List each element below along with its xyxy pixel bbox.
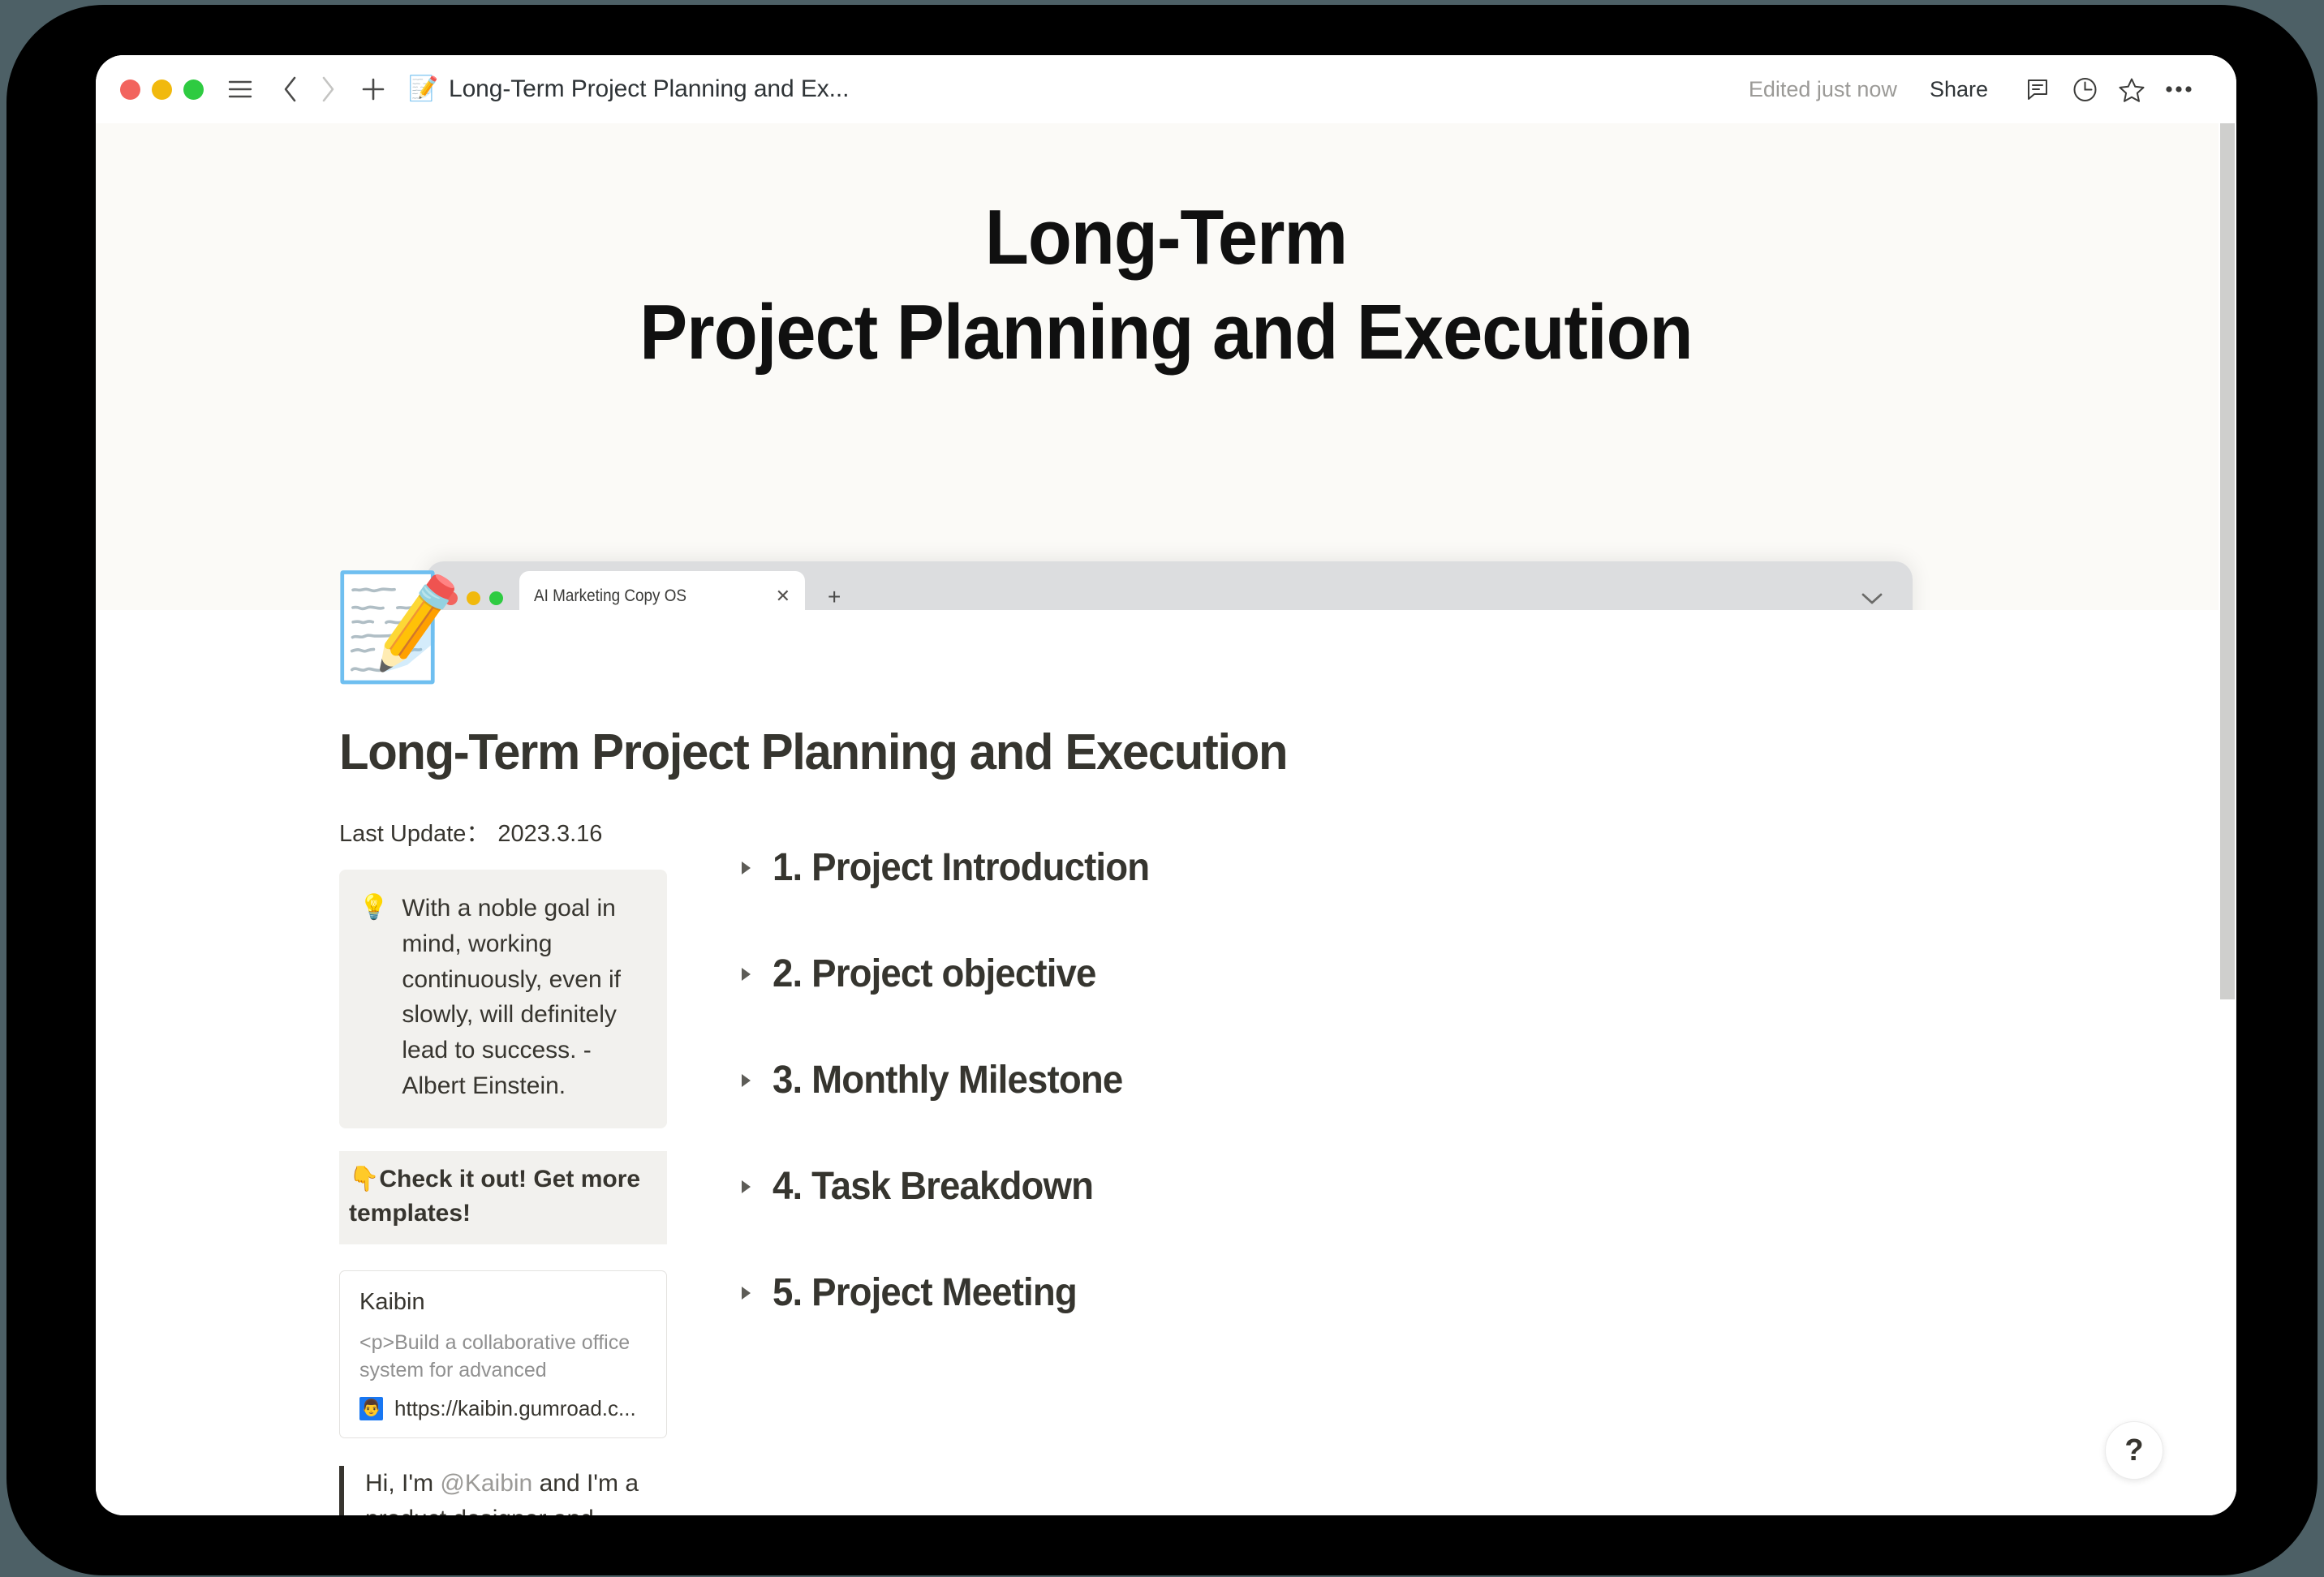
chevron-down-icon <box>1861 591 1883 610</box>
page-icon[interactable]: 📝 <box>333 571 446 685</box>
toggle-item-5[interactable]: 5. Project Meeting <box>735 1270 2139 1315</box>
last-update-row: Last Update：2023.3.16 <box>339 814 667 849</box>
close-button[interactable] <box>120 79 140 100</box>
page-scroll-area[interactable]: Long-Term Project Planning and Execution… <box>96 123 2236 1515</box>
pointing-down-icon: 👇 <box>349 1166 379 1192</box>
bookmark-title: Kaibin <box>359 1289 647 1316</box>
forward-button[interactable] <box>309 71 346 108</box>
toggle-item-4[interactable]: 4. Task Breakdown <box>735 1164 2139 1209</box>
toggle-label[interactable]: 1. Project Introduction <box>773 845 1149 890</box>
page-cover: Long-Term Project Planning and Execution… <box>96 123 2236 610</box>
toggle-item-3[interactable]: 3. Monthly Milestone <box>735 1058 2139 1102</box>
bookmark-link-row: 👨 https://kaibin.gumroad.c... <box>359 1396 647 1421</box>
help-button[interactable]: ? <box>2105 1421 2163 1480</box>
scrollbar-thumb[interactable] <box>2220 123 2235 999</box>
toggle-label[interactable]: 2. Project objective <box>773 952 1096 996</box>
favicon-icon: 👨 <box>359 1397 383 1420</box>
plus-icon[interactable] <box>355 71 392 108</box>
breadcrumb[interactable]: 📝 Long-Term Project Planning and Ex... <box>410 75 849 103</box>
mockup-maximize-dot <box>489 591 503 605</box>
share-button[interactable]: Share <box>1918 71 1999 109</box>
mockup-minimize-dot <box>467 591 480 605</box>
mockup-tab-label: AI Marketing Copy OS <box>534 587 744 606</box>
cover-title-line-1: Long-Term <box>182 190 2151 285</box>
mockup-new-tab-icon: + <box>805 586 841 610</box>
page-emoji-icon: 📝 <box>410 75 437 103</box>
author-quote-text: Hi, I'm @Kaibin and I'm a product design… <box>365 1466 667 1515</box>
minimize-button[interactable] <box>152 79 172 100</box>
mention-link[interactable]: @Kaibin <box>440 1470 532 1497</box>
edited-status: Edited just now <box>1749 77 1897 102</box>
promo-highlight[interactable]: 👇Check it out! Get more templates! <box>339 1151 667 1244</box>
back-button[interactable] <box>272 71 309 108</box>
title-bar-actions: Edited just now Share <box>1749 67 2201 111</box>
cover-title: Long-Term Project Planning and Execution <box>182 190 2151 380</box>
app-window: 📝 Long-Term Project Planning and Ex... E… <box>96 55 2236 1515</box>
mockup-tab-bar: AI Marketing Copy OS ✕ + <box>426 561 1913 610</box>
triangle-right-icon[interactable] <box>735 964 756 985</box>
vertical-scrollbar[interactable] <box>2219 123 2236 1515</box>
comment-icon[interactable] <box>2016 67 2059 111</box>
bookmark-card[interactable]: Kaibin <p>Build a collaborative office s… <box>339 1270 667 1438</box>
page-title[interactable]: Long-Term Project Planning and Execution <box>339 724 1287 781</box>
two-column-layout: Last Update：2023.3.16 💡 With a noble goa… <box>339 814 2139 1515</box>
toggle-label[interactable]: 3. Monthly Milestone <box>773 1058 1122 1102</box>
ellipsis-icon[interactable] <box>2157 67 2201 111</box>
toggle-label[interactable]: 5. Project Meeting <box>773 1270 1077 1315</box>
triangle-right-icon[interactable] <box>735 1176 756 1197</box>
toggle-item-1[interactable]: 1. Project Introduction <box>735 845 2139 890</box>
callout-text: With a noble goal in mind, working conti… <box>402 891 648 1104</box>
triangle-right-icon[interactable] <box>735 1070 756 1091</box>
promo-highlight-text: Check it out! Get more templates! <box>349 1166 640 1227</box>
toggle-label[interactable]: 4. Task Breakdown <box>773 1164 1093 1209</box>
title-bar: 📝 Long-Term Project Planning and Ex... E… <box>96 55 2236 123</box>
author-quote-block: Hi, I'm @Kaibin and I'm a product design… <box>339 1466 667 1515</box>
triangle-right-icon[interactable] <box>735 857 756 879</box>
last-update-value: 2023.3.16 <box>497 821 602 847</box>
mockup-tab-close-icon: ✕ <box>768 586 790 607</box>
lightbulb-icon: 💡 <box>359 891 389 1104</box>
triangle-right-icon[interactable] <box>735 1283 756 1304</box>
bookmark-url[interactable]: https://kaibin.gumroad.c... <box>394 1396 636 1421</box>
window-controls <box>120 79 204 100</box>
breadcrumb-title[interactable]: Long-Term Project Planning and Ex... <box>449 75 849 103</box>
bookmark-description: <p>Build a collaborative office system f… <box>359 1329 647 1385</box>
browser-mockup: AI Marketing Copy OS ✕ + <box>426 561 1913 610</box>
toggle-list: 1. Project Introduction 2. Project objec… <box>735 814 2139 1377</box>
maximize-button[interactable] <box>183 79 204 100</box>
quote-callout[interactable]: 💡 With a noble goal in mind, working con… <box>339 870 667 1128</box>
quote-prefix: Hi, I'm <box>365 1470 440 1497</box>
toggle-item-2[interactable]: 2. Project objective <box>735 952 2139 996</box>
hamburger-icon[interactable] <box>222 71 259 108</box>
cover-title-line-2: Project Planning and Execution <box>182 285 2151 380</box>
left-column: Last Update：2023.3.16 💡 With a noble goa… <box>339 814 667 1515</box>
mockup-tab: AI Marketing Copy OS ✕ <box>519 571 805 610</box>
star-icon[interactable] <box>2110 67 2154 111</box>
last-update-label: Last Update： <box>339 821 489 847</box>
clock-icon[interactable] <box>2063 67 2107 111</box>
